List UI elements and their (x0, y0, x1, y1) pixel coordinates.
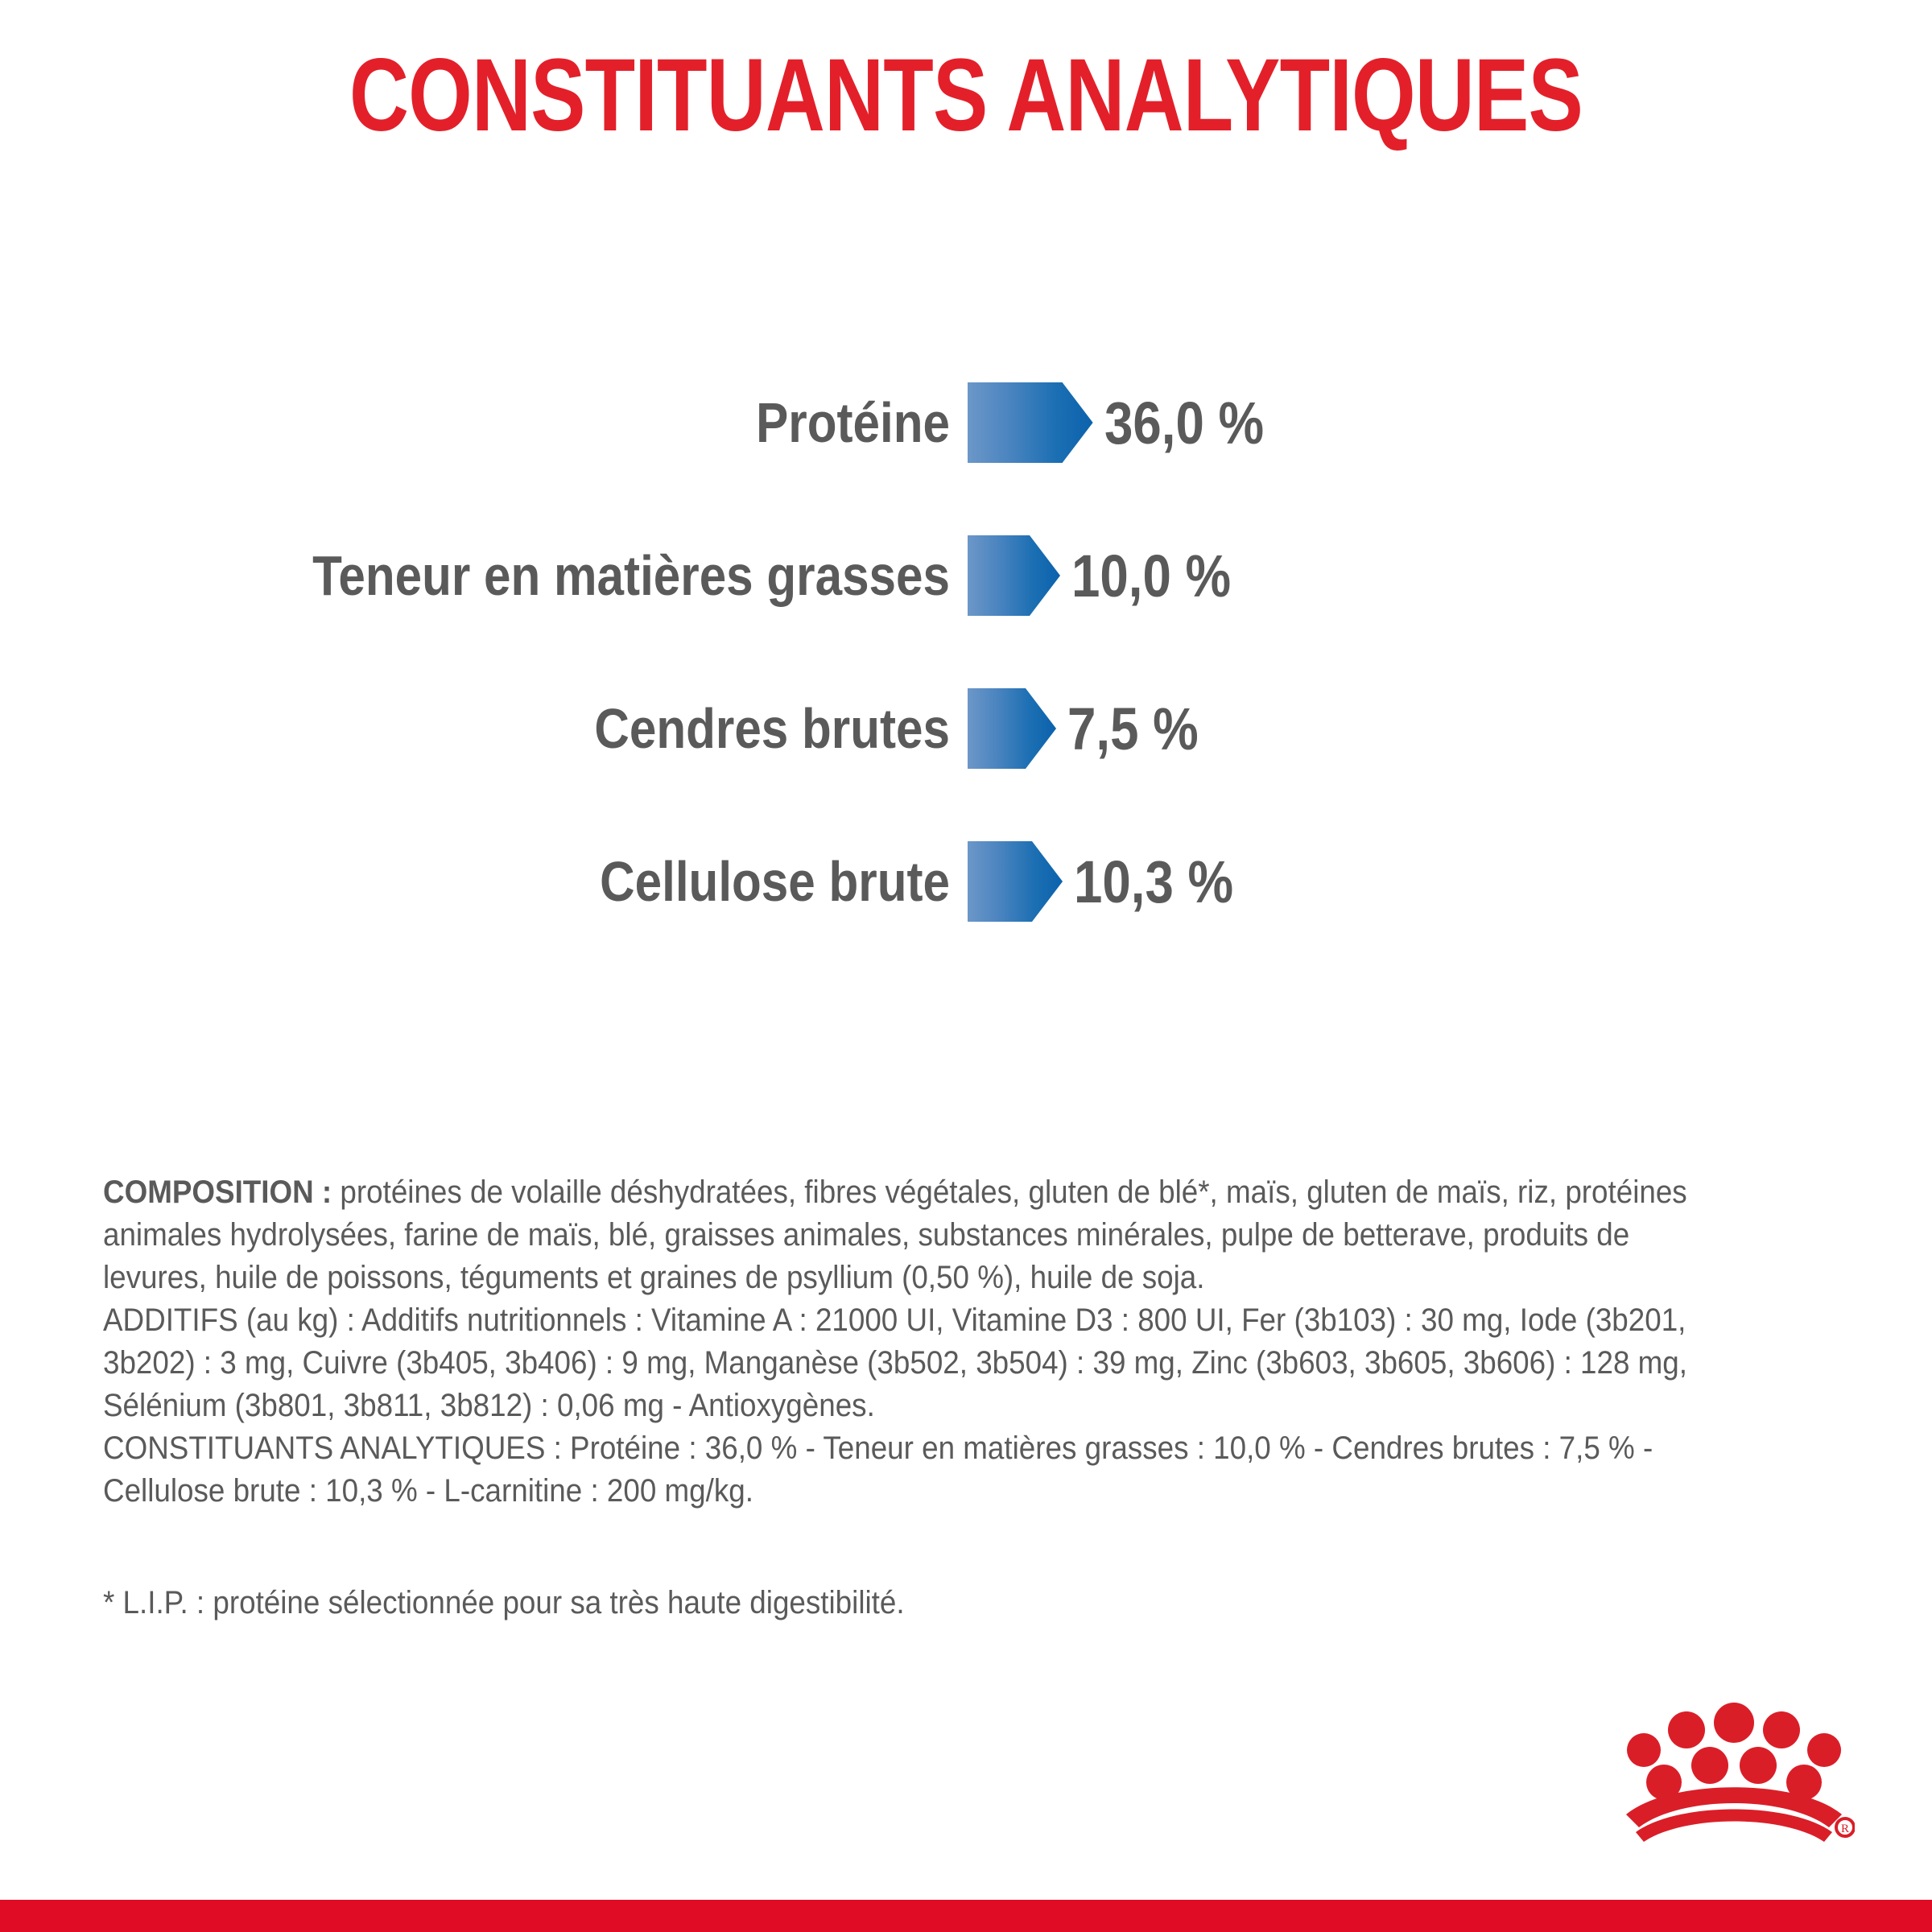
nutrient-label-matieres-grasses: Teneur en matières grasses (133, 543, 950, 608)
nutrient-label-proteine: Protéine (133, 390, 950, 455)
nutrient-bar-cell: 10,3 % (968, 841, 1290, 922)
registered-mark: R (1841, 1823, 1849, 1835)
bottom-red-bar (0, 1900, 1932, 1932)
nutrient-bar-cell: 7,5 % (968, 688, 1290, 769)
nutrient-bar-arrow-proteine (968, 382, 1093, 463)
nutrient-value-cellulose-brute: 10,3 % (1074, 848, 1233, 916)
nutrient-bar-cell: 36,0 % (968, 382, 1290, 463)
lip-footnote: * L.I.P. : protéine sélectionnée pour sa… (103, 1582, 1695, 1624)
nutrient-bar-arrow-cendres-brutes (968, 688, 1056, 769)
page-title: CONSTITUANTS ANALYTIQUES (193, 42, 1739, 150)
nutrient-bar-cell: 10,0 % (968, 535, 1290, 616)
composition-block: COMPOSITION : protéines de volaille désh… (103, 1171, 1695, 1513)
analytical-constituents-chart: Protéine 36,0 % Teneur en matières grass… (0, 346, 1932, 958)
nutrient-row: Cendres brutes 7,5 % (0, 652, 1932, 805)
composition-ingredients: protéines de volaille déshydratées, fibr… (103, 1174, 1687, 1295)
composition-ingredients-paragraph: COMPOSITION : protéines de volaille désh… (103, 1171, 1695, 1299)
nutrient-value-matieres-grasses: 10,0 % (1071, 542, 1231, 610)
nutrient-value-cendres-brutes: 7,5 % (1067, 695, 1199, 763)
nutrition-panel: CONSTITUANTS ANALYTIQUES Protéine 36,0 %… (0, 0, 1932, 1932)
composition-constituants: CONSTITUANTS ANALYTIQUES : Protéine : 36… (103, 1427, 1695, 1513)
nutrient-row: Protéine 36,0 % (0, 346, 1932, 499)
composition-additifs: ADDITIFS (au kg) : Additifs nutritionnel… (103, 1299, 1695, 1427)
nutrient-bar-arrow-cellulose-brute (968, 841, 1063, 922)
nutrient-row: Teneur en matières grasses 10,0 % (0, 499, 1932, 652)
nutrient-value-proteine: 36,0 % (1104, 389, 1264, 457)
composition-heading: COMPOSITION : (103, 1174, 332, 1210)
nutrient-label-cellulose-brute: Cellulose brute (133, 849, 950, 914)
nutrient-bar-arrow-matieres-grasses (968, 535, 1060, 616)
nutrient-row: Cellulose brute 10,3 % (0, 805, 1932, 958)
nutrient-label-cendres-brutes: Cendres brutes (133, 696, 950, 761)
royal-canin-crown-logo: R (1613, 1694, 1855, 1855)
